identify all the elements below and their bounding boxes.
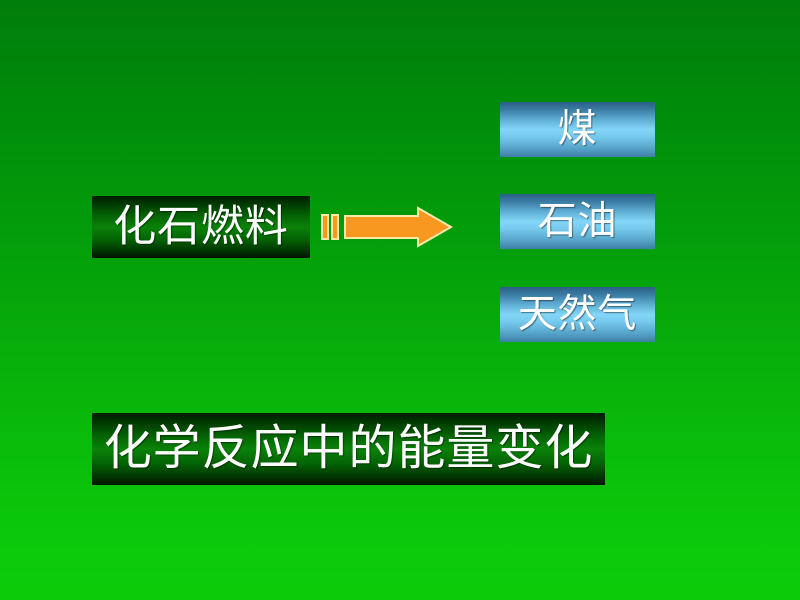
title-banner-label: 化学反应中的能量变化 xyxy=(104,425,594,473)
result-box-natural-gas[interactable]: 天然气 xyxy=(500,287,655,342)
result-box-coal[interactable]: 煤 xyxy=(500,102,655,157)
title-banner[interactable]: 化学反应中的能量变化 xyxy=(92,413,605,485)
presentation-slide: 化石燃料 煤 石油 天然气 化学反应中的能量变化 xyxy=(0,0,800,600)
result-label-coal: 煤 xyxy=(558,110,598,149)
arrow-tail-tick-2 xyxy=(332,215,338,239)
arrow-body xyxy=(345,208,451,246)
fossil-fuel-label: 化石燃料 xyxy=(113,206,288,249)
right-arrow-icon xyxy=(320,206,454,248)
result-label-oil: 石油 xyxy=(538,202,618,241)
fossil-fuel-box[interactable]: 化石燃料 xyxy=(92,196,310,258)
result-label-natural-gas: 天然气 xyxy=(518,295,637,334)
right-arrow-shape xyxy=(320,206,454,248)
result-box-oil[interactable]: 石油 xyxy=(500,194,655,249)
arrow-tail-tick-1 xyxy=(322,215,328,239)
